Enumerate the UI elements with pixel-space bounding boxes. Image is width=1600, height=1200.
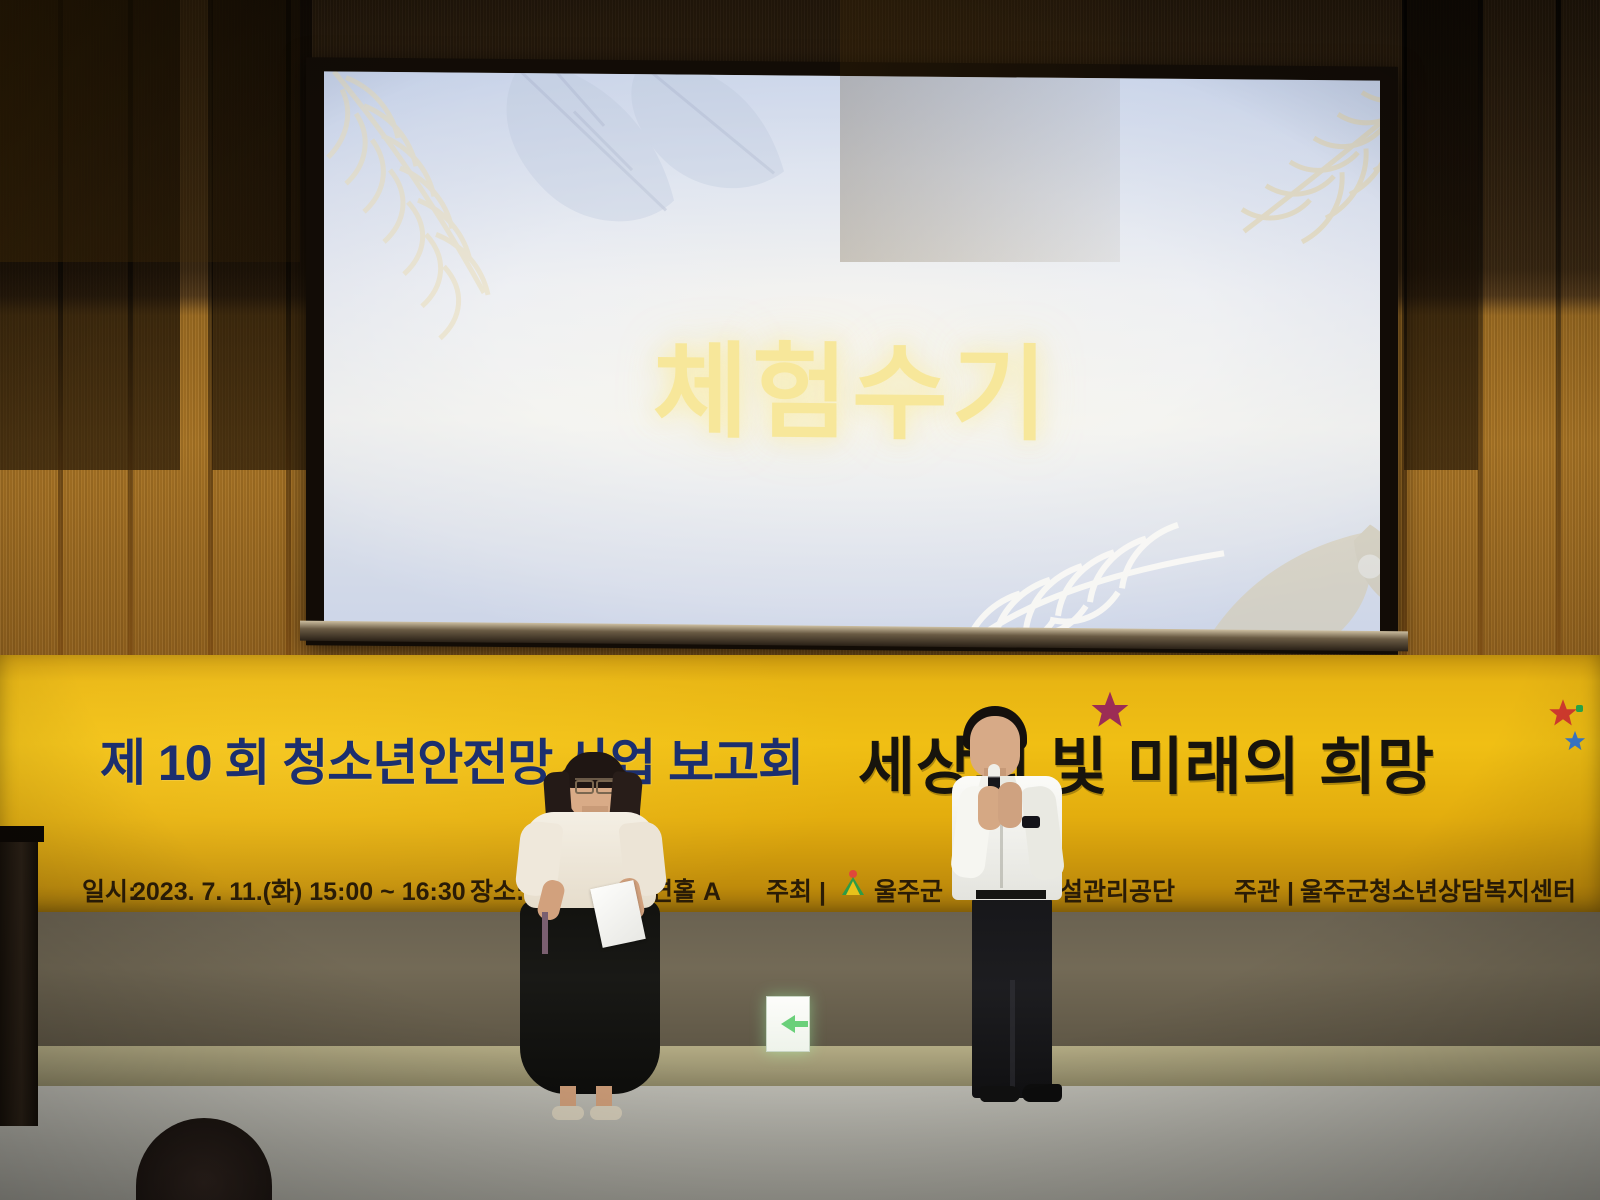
- banner-slogan: 세상의 빛 미래의 희망: [858, 716, 1435, 806]
- banner-info-date-label: 일시:: [82, 872, 136, 908]
- podium: [0, 826, 38, 1126]
- shoe-right: [1022, 1084, 1062, 1102]
- podium-top: [0, 826, 44, 842]
- belt: [976, 890, 1046, 899]
- banner-info-organizer-label: 주관 |: [1234, 872, 1294, 908]
- stage-floor-edge: [0, 1046, 1600, 1090]
- trouser-leg-seam: [1010, 980, 1015, 1098]
- shoe-right: [590, 1106, 622, 1120]
- photo-scene: 체험수기 제 10 회 청소년안전망 사업 보고회 세상의 빛 미래의 희망 일…: [0, 0, 1600, 1200]
- slide-title: 체험수기: [324, 303, 1380, 463]
- wall-panel-seam: [286, 0, 291, 672]
- palm-frond-top-right-icon: [1204, 71, 1380, 283]
- star-decoration-icon: [1564, 730, 1586, 752]
- ulju-county-logo-icon: [838, 868, 868, 898]
- exit-arrow-left-icon: [781, 1015, 795, 1033]
- banner-info-organizer-value: 울주군청소년상담복지센터: [1300, 872, 1576, 908]
- wall-panel-seam: [208, 0, 213, 672]
- banner-info-date-value: 2023. 7. 11.(화) 15:00 ~ 16:30: [132, 872, 466, 908]
- projection-screen: 체험수기: [324, 71, 1380, 640]
- wall-panel-seam: [128, 0, 133, 672]
- wall-panel-seam: [1478, 0, 1483, 672]
- hand-right: [998, 782, 1022, 828]
- exit-sign: [766, 996, 810, 1052]
- skirt-tassel: [542, 912, 548, 954]
- wristwatch: [1022, 816, 1040, 828]
- projection-screen-frame: 체험수기: [306, 57, 1398, 655]
- shoe-left: [980, 1086, 1020, 1102]
- wall-panel-seam: [1556, 0, 1561, 672]
- monstera-leaf-top-center-icon: [394, 71, 814, 311]
- leaf-bottom-center-icon: [1184, 479, 1380, 641]
- banner-info-cohost-value: 설관리공단: [1060, 872, 1175, 908]
- wall-panel-seam: [58, 0, 63, 672]
- star-decoration-icon: [1548, 698, 1578, 728]
- banner-info-host-label: 주최 |: [766, 872, 826, 908]
- banner-title: 제 10 회 청소년안전망 사업 보고회: [100, 723, 803, 795]
- glasses-icon: [575, 778, 615, 790]
- wall-shadow-panel: [212, 0, 312, 470]
- wall-panel-seam: [1402, 0, 1407, 672]
- shoe-left: [552, 1106, 584, 1120]
- banner-info-host-value: 울주군: [874, 872, 943, 908]
- star-decoration-icon: [1090, 690, 1130, 730]
- wall-shadow-panel: [0, 0, 180, 470]
- wall-shadow-panel: [1404, 0, 1478, 470]
- confetti-dot: [1576, 705, 1583, 712]
